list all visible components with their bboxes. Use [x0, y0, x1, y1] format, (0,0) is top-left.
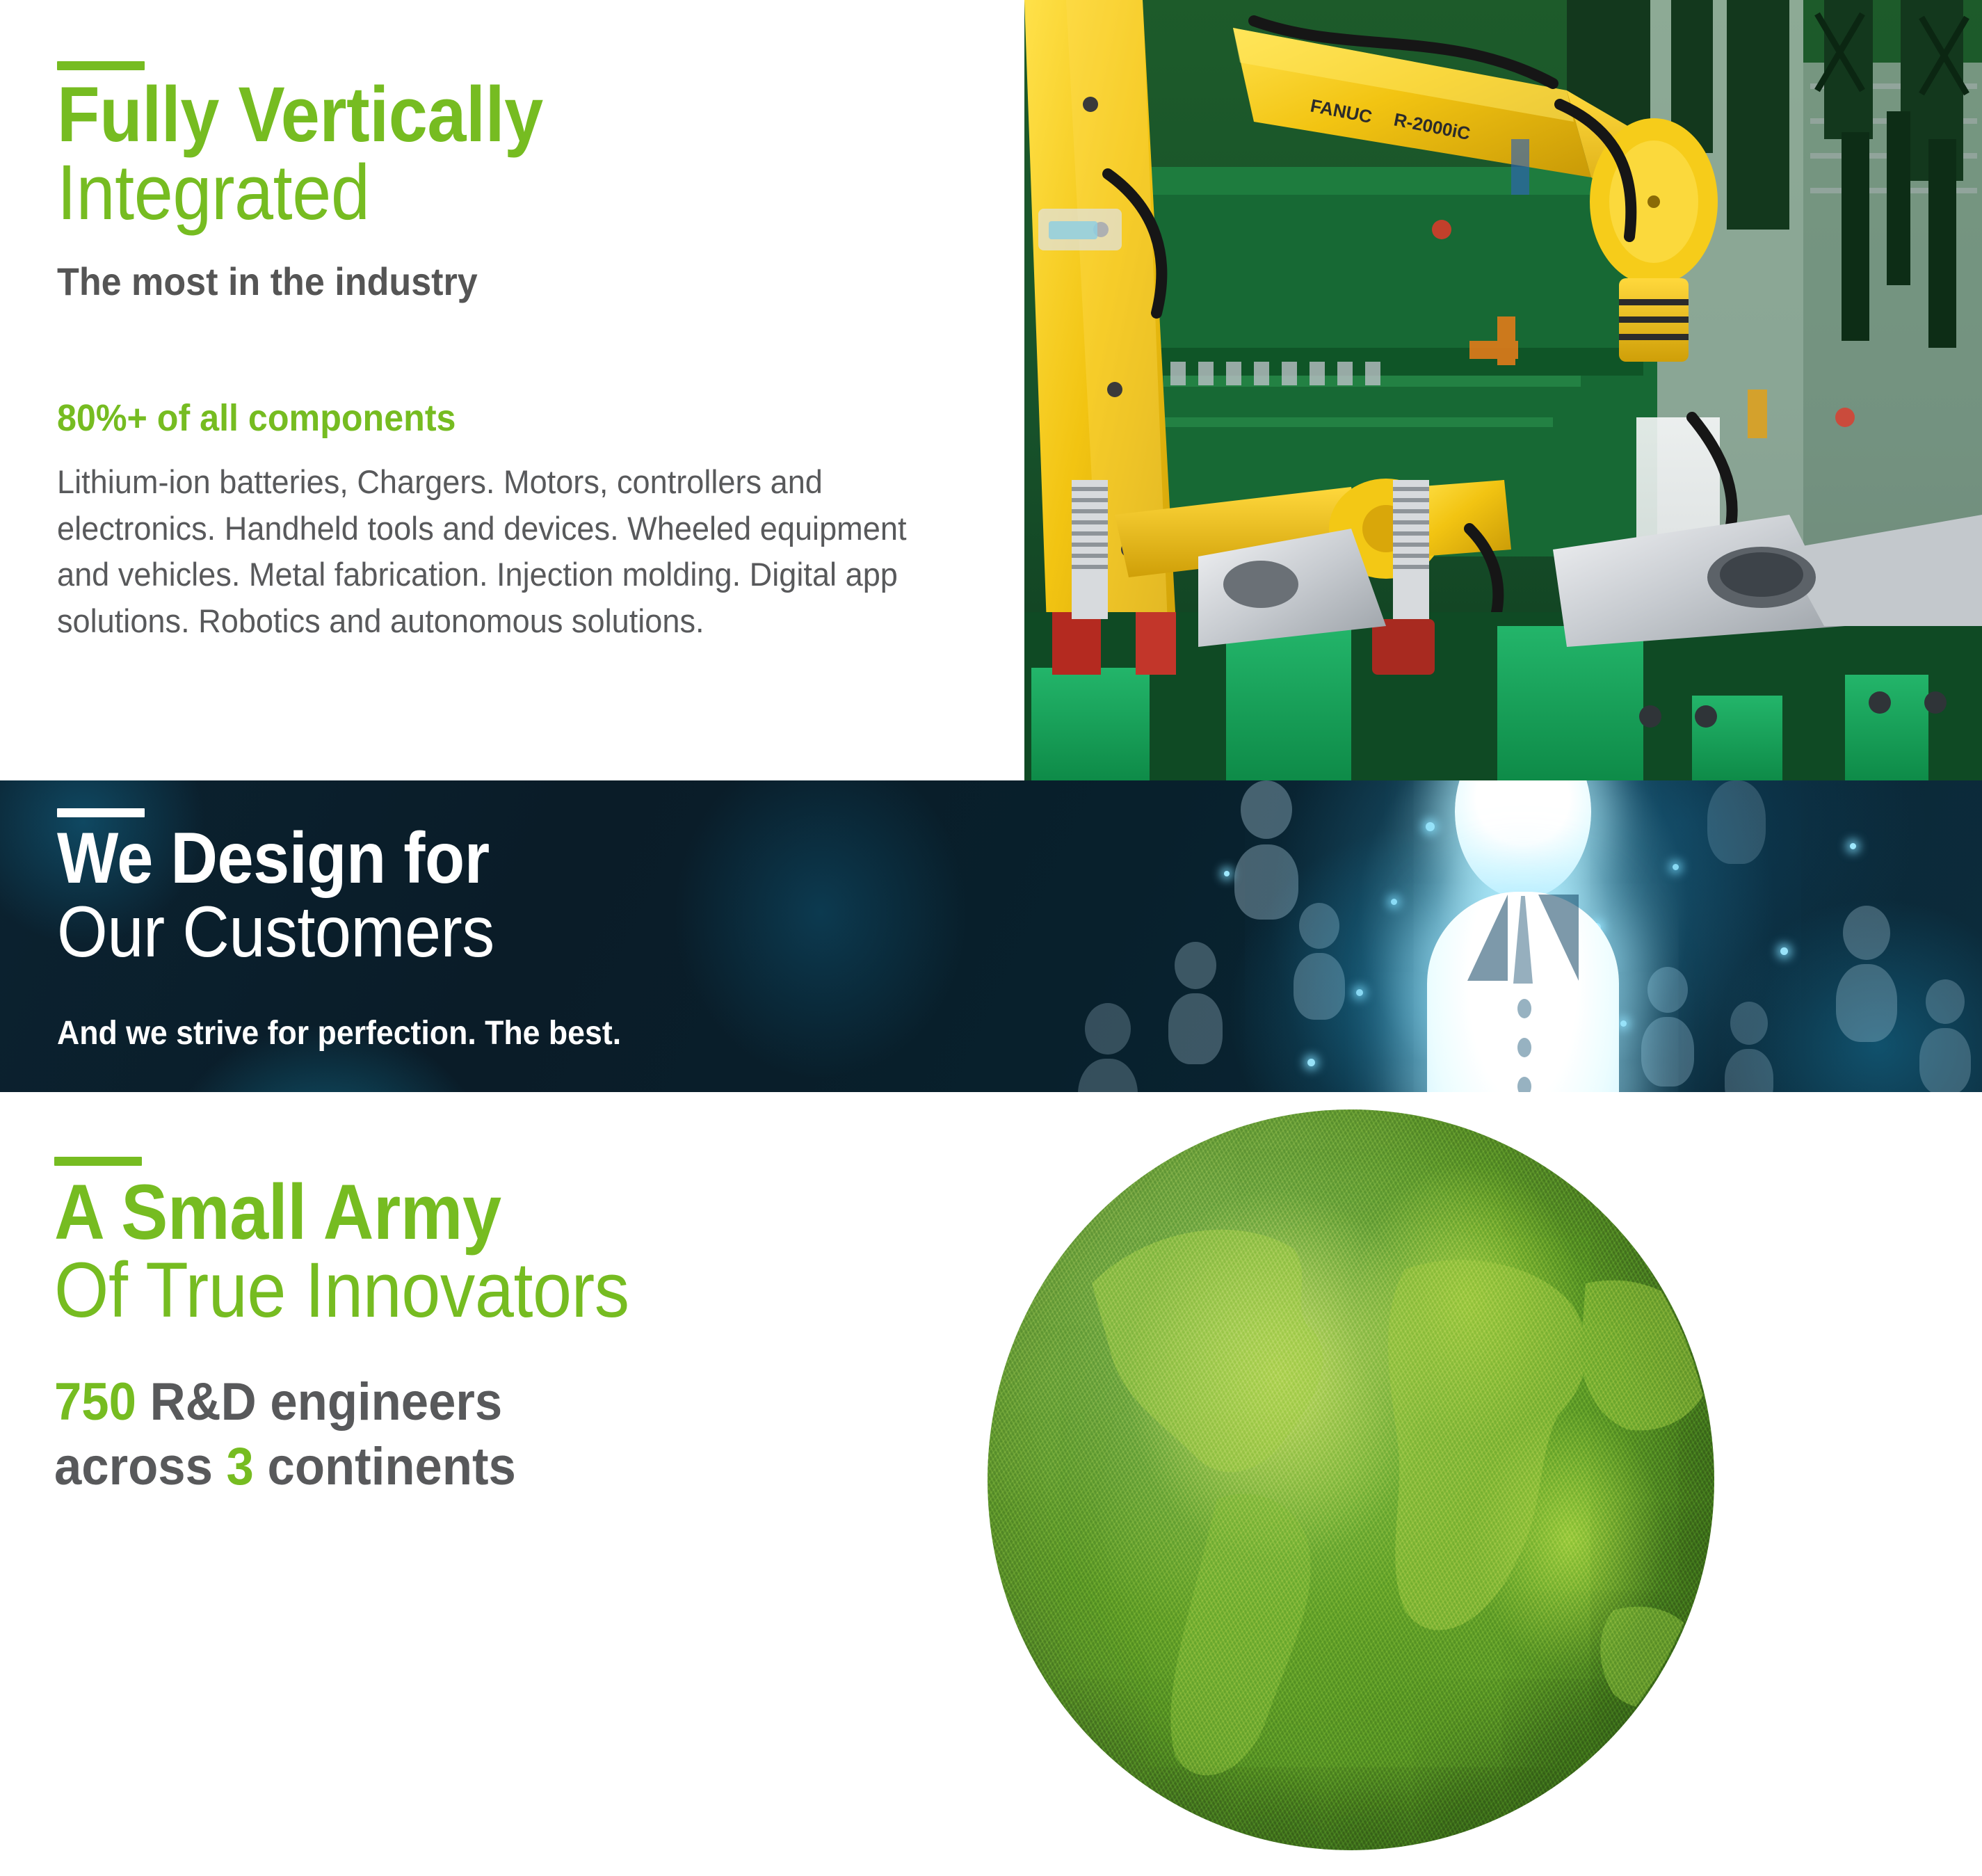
- section-design-for-customers: We Design for Our Customers And we striv…: [0, 780, 1982, 1092]
- components-body-text: Lithium-ion batteries, Chargers. Motors,…: [57, 459, 951, 645]
- design-customers-tagline: And we strive for perfection. The best.: [57, 1014, 621, 1052]
- small-army-copy: A Small Army Of True Innovators 750 R&D …: [54, 1092, 958, 1876]
- glow-person-button: [1517, 999, 1531, 1018]
- continents-label: continents: [254, 1437, 516, 1496]
- green-dash-accent-icon: [57, 61, 145, 70]
- globe-sphere: [988, 1109, 1714, 1850]
- design-customers-title-light: Our Customers: [57, 897, 494, 968]
- page-title-light: Integrated: [57, 154, 369, 231]
- glow-person-button: [1517, 1038, 1531, 1057]
- sparkle-icon: [1224, 871, 1230, 876]
- glowing-person-icon: [1363, 780, 1683, 1092]
- glow-person-button: [1517, 1077, 1531, 1092]
- components-stat-label: 80%+ of all components: [57, 396, 456, 440]
- vertical-integration-tagline: The most in the industry: [57, 259, 478, 304]
- person-silhouette-icon: [1919, 979, 1971, 1092]
- grass-covered-globe-photo: [988, 1109, 1714, 1850]
- person-silhouette-icon: [1168, 942, 1223, 1064]
- design-customers-copy: We Design for Our Customers And we striv…: [57, 780, 892, 1092]
- globe-grass-texture: [988, 1109, 1714, 1850]
- engineers-label: R&D engineers: [136, 1372, 502, 1432]
- robot-photo-svg: FANUC R-2000iC: [1024, 0, 1982, 780]
- page-title-bold: Fully Vertically: [57, 77, 543, 153]
- vertical-integration-copy: Fully Vertically Integrated The most in …: [57, 0, 1017, 780]
- small-army-title-light: Of True Innovators: [54, 1252, 629, 1329]
- sparkle-icon: [1850, 843, 1856, 849]
- person-silhouette-icon: [1078, 1003, 1138, 1092]
- green-dash-accent-icon: [54, 1157, 142, 1166]
- white-dash-accent-icon: [57, 808, 145, 817]
- person-silhouette-icon: [1836, 906, 1897, 1042]
- continents-prefix: across: [54, 1437, 227, 1496]
- glow-person-collar-left: [1467, 895, 1508, 981]
- section-vertical-integration: Fully Vertically Integrated The most in …: [0, 0, 1982, 780]
- design-customers-title-bold: We Design for: [57, 824, 490, 895]
- glow-person-collar-right: [1538, 895, 1579, 981]
- engineers-stat: 750 R&D engineers across 3 continents: [54, 1370, 830, 1499]
- robotic-assembly-line-photo: FANUC R-2000iC: [1024, 0, 1982, 780]
- small-army-title-bold: A Small Army: [54, 1174, 501, 1251]
- engineers-count: 750: [54, 1372, 136, 1432]
- continents-count: 3: [227, 1437, 254, 1496]
